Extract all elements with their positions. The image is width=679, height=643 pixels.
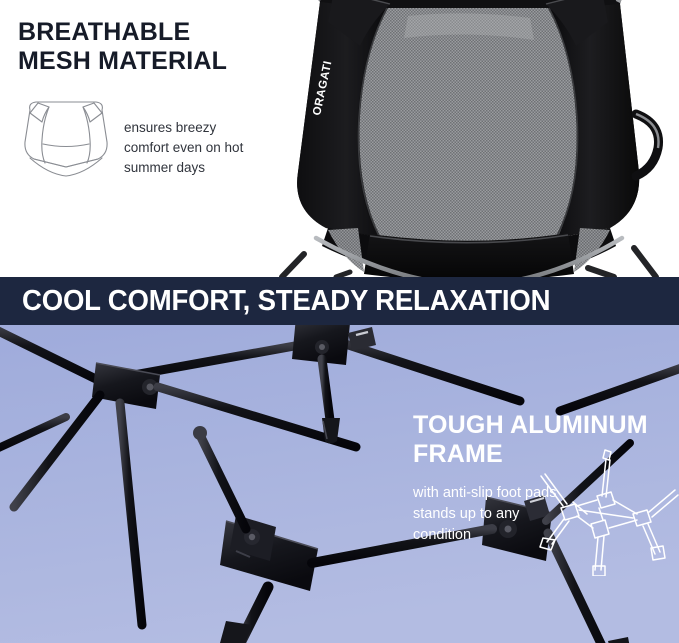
top-panel-title: BREATHABLE MESH MATERIAL [18, 18, 268, 76]
bottom-panel-title: TOUGH ALUMINUM FRAME [413, 411, 663, 469]
chair-seat-outline-glyph [18, 96, 114, 178]
top-panel-body-text: ensures breezy comfort even on hot summe… [124, 110, 252, 179]
bottom-panel-text-block: TOUGH ALUMINUM FRAME with anti-slip foot… [413, 411, 663, 546]
top-panel-detail-row: ensures breezy comfort even on hot summe… [18, 96, 268, 192]
chair-photo-graphic: ORAGATI [258, 0, 679, 277]
bottom-panel-body-text: with anti-slip foot pads stands up to an… [413, 483, 578, 546]
top-panel-heading-block: BREATHABLE MESH MATERIAL [18, 18, 268, 76]
product-feature-infographic: ORAGATI [0, 0, 679, 643]
top-feature-panel: ORAGATI [0, 0, 679, 277]
headline-banner: COOL COMFORT, STEADY RELAXATION [0, 277, 679, 325]
bottom-feature-panel: TOUGH ALUMINUM FRAME with anti-slip foot… [0, 325, 679, 643]
banner-headline: COOL COMFORT, STEADY RELAXATION [22, 287, 550, 316]
chair-seat-outline-icon [18, 96, 114, 178]
camping-chair-mesh-back-photo: ORAGATI [258, 0, 679, 277]
